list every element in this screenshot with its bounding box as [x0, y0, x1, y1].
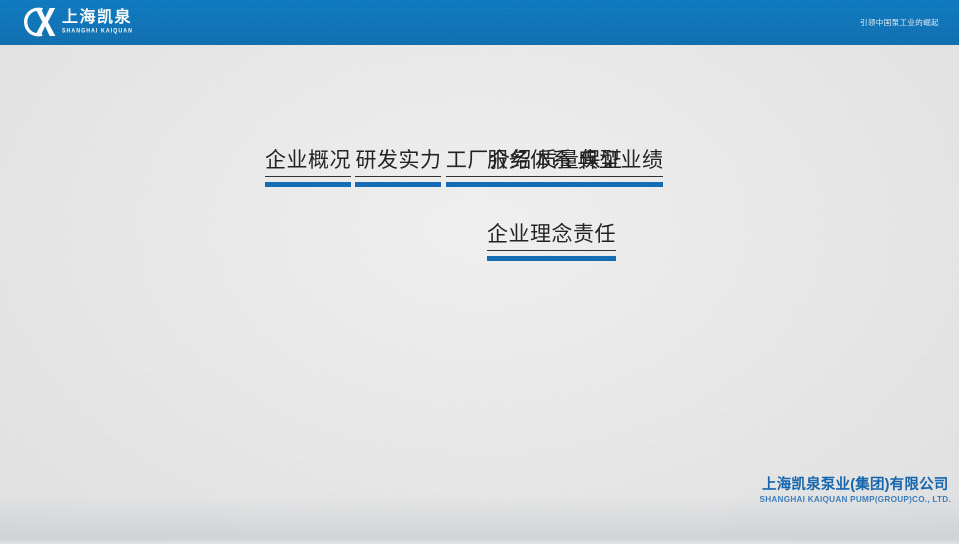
nav-item-accent-bar [487, 256, 616, 261]
nav-item-accent-bar [355, 182, 441, 187]
brand-logo[interactable]: 上海凯泉 SHANGHAI KAIQUAN [22, 5, 133, 39]
nav-item-service-system[interactable]: 服务体系 [487, 148, 573, 187]
footer-company-logo: 上海凯泉泵业(集团)有限公司 SHANGHAI KAIQUAN PUMP(GRO… [760, 478, 952, 504]
logo-text-cn: 上海凯泉 [62, 10, 133, 26]
nav-item-accent-bar [577, 182, 663, 187]
footer-company-name-en: SHANGHAI KAIQUAN PUMP(GROUP)CO., LTD. [760, 496, 952, 504]
nav-item-label: 典型业绩 [577, 148, 663, 177]
nav-item-company-overview[interactable]: 企业概况 [265, 148, 351, 187]
nav-item-label: 企业概况 [265, 148, 351, 177]
nav-item-corporate-philosophy[interactable]: 企业理念责任 [487, 222, 616, 261]
header-tagline: 引领中国泵工业的崛起 [860, 0, 939, 45]
nav-item-label: 研发实力 [355, 148, 441, 177]
background-texture [0, 0, 959, 544]
footer-company-name-cn: 上海凯泉泵业(集团)有限公司 [760, 478, 952, 493]
nav-item-label: 服务体系 [487, 148, 573, 177]
header-bar: 上海凯泉 SHANGHAI KAIQUAN 引领中国泵工业的崛起 [0, 0, 959, 45]
logo-text-en: SHANGHAI KAIQUAN [62, 29, 133, 35]
nav-item-accent-bar [265, 182, 351, 187]
presentation-slide: 上海凯泉 SHANGHAI KAIQUAN 引领中国泵工业的崛起 企业概况 研发… [0, 0, 959, 544]
nav-item-label: 企业理念责任 [487, 222, 616, 251]
nav-item-rd-strength[interactable]: 研发实力 [355, 148, 441, 187]
nav-item-accent-bar [487, 182, 573, 187]
nav-item-typical-achievements[interactable]: 典型业绩 [577, 148, 663, 187]
kaiquan-k-mark-icon [22, 6, 56, 38]
nav-column-right: 服务体系 典型业绩 企业理念责任 [487, 148, 695, 261]
